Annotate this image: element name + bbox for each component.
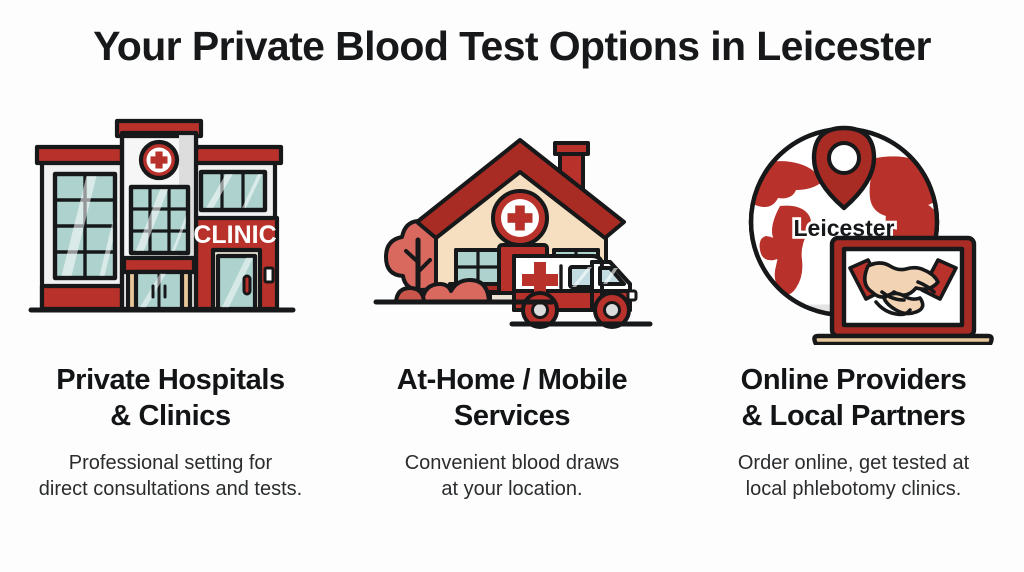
options-columns: CLINIC Private Hospitals & Clinics Profe… xyxy=(0,100,1024,502)
option-heading: Private Hospitals & Clinics xyxy=(6,363,336,434)
option-description: Professional setting for direct consulta… xyxy=(6,450,336,502)
option-description: Convenient blood draws at your location. xyxy=(347,450,677,502)
option-desc-line2: at your location. xyxy=(347,476,677,502)
option-heading-line2: & Clinics xyxy=(6,399,336,435)
option-desc-line1: Professional setting for xyxy=(6,450,336,476)
option-column-online-providers: Leicester xyxy=(683,100,1024,502)
option-desc-line2: local phlebotomy clinics. xyxy=(689,476,1019,502)
option-desc-line1: Convenient blood draws xyxy=(347,450,677,476)
option-column-at-home-mobile: At-Home / Mobile Services Convenient blo… xyxy=(342,100,683,502)
infographic-canvas: Your Private Blood Test Options in Leice… xyxy=(0,0,1024,572)
page-title: Your Private Blood Test Options in Leice… xyxy=(0,22,1024,71)
option-column-private-hospitals: CLINIC Private Hospitals & Clinics Profe… xyxy=(0,100,341,502)
option-heading-line2: Services xyxy=(347,399,677,435)
option-desc-line1: Order online, get tested at xyxy=(689,450,1019,476)
option-desc-line2: direct consultations and tests. xyxy=(6,476,336,502)
option-heading-line1: Online Providers xyxy=(689,363,1019,399)
globe-laptop-handshake-icon: Leicester xyxy=(694,100,1014,355)
option-heading-line1: Private Hospitals xyxy=(6,363,336,399)
house-with-ambulance-icon xyxy=(352,100,672,355)
option-heading-line1: At-Home / Mobile xyxy=(347,363,677,399)
option-heading-line2: & Local Partners xyxy=(689,399,1019,435)
option-heading: Online Providers & Local Partners xyxy=(689,363,1019,434)
option-description: Order online, get tested at local phlebo… xyxy=(689,450,1019,502)
hospital-clinic-building-icon: CLINIC xyxy=(11,100,331,355)
option-heading: At-Home / Mobile Services xyxy=(347,363,677,434)
clinic-sign-label: CLINIC xyxy=(193,221,276,249)
